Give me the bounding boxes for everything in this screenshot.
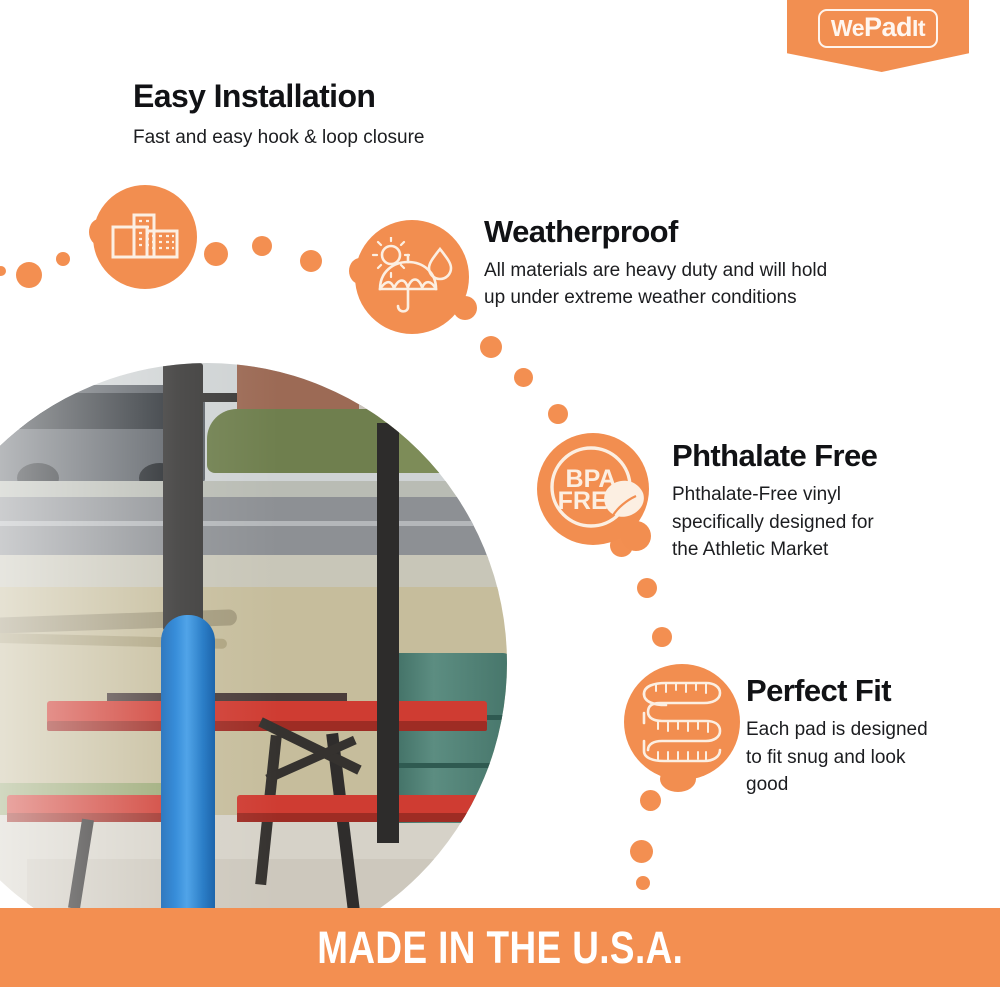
feature-title-weatherproof: Weatherproof [484,214,678,250]
icon-blob [349,258,371,284]
photo-metal-pole [377,423,399,843]
building-installation-icon [93,185,197,289]
feature-body-line: the Athletic Market [672,536,874,564]
infographic-canvas: We Pad It Easy Installation Fast and eas… [0,0,1000,987]
photo-metal-pole [163,363,203,631]
feature-body-weatherproof: All materials are heavy duty and will ho… [484,257,827,311]
feature-body-line: good [746,771,928,799]
made-in-usa-text: MADE IN THE U.S.A. [317,922,683,974]
photo-barrel-ring [385,763,507,768]
feature-title-easy-installation: Easy Installation [133,78,375,115]
photo-road-line [0,521,507,526]
umbrella-sun-rain-icon [355,220,469,334]
product-photo [0,363,507,963]
feature-body-easy-installation: Fast and easy hook & loop closure [133,125,425,151]
logo-text-we: We [831,17,864,40]
feature-body-line: specifically designed for [672,509,874,537]
trail-dot [252,236,272,256]
trail-dot [16,262,42,288]
trail-dot [652,627,672,647]
photo-road [0,497,507,559]
feature-title-phthalate-free: Phthalate Free [672,438,877,474]
made-in-usa-banner: MADE IN THE U.S.A. [0,908,1000,987]
feature-body-line: Fast and easy hook & loop closure [133,125,425,151]
trail-dot [0,266,6,276]
logo-text-it: It [912,17,925,40]
feature-body-line: All materials are heavy duty and will ho… [484,257,827,284]
trail-dot [56,252,70,266]
feature-body-perfect-fit: Each pad is designed to fit snug and loo… [746,716,928,799]
feature-body-line: Each pad is designed [746,716,928,744]
icon-blob [453,296,477,320]
bpa-free-leaf-icon: BPA FREE [537,433,649,545]
photo-bench-edge [237,813,487,822]
feature-body-phthalate-free: Phthalate-Free vinyl specifically design… [672,481,874,564]
trail-dot [204,242,228,266]
photo-pole-arm [181,393,237,402]
trail-dot [548,404,568,424]
logo-text-pad: Pad [864,14,912,41]
icon-blob [89,219,109,245]
trail-dot [630,840,653,863]
trail-dot [300,250,322,272]
trail-dot [640,790,661,811]
trail-dot [514,368,533,387]
photo-bench-edge [7,813,187,822]
brand-logo-badge[interactable]: We Pad It [787,0,969,72]
icon-blob [621,521,651,551]
trail-dot [636,876,650,890]
photo-scene [0,363,507,963]
feature-body-line: Phthalate-Free vinyl [672,481,874,509]
trail-dot [637,578,657,598]
feature-title-perfect-fit: Perfect Fit [746,673,891,709]
feature-body-line: up under extreme weather conditions [484,284,827,311]
icon-blob [660,766,696,792]
photo-suv-window [3,393,183,429]
brand-logo-frame: We Pad It [818,9,938,48]
feature-body-line: to fit snug and look [746,744,928,772]
trail-dot [480,336,502,358]
measuring-tape-icon [624,664,740,780]
